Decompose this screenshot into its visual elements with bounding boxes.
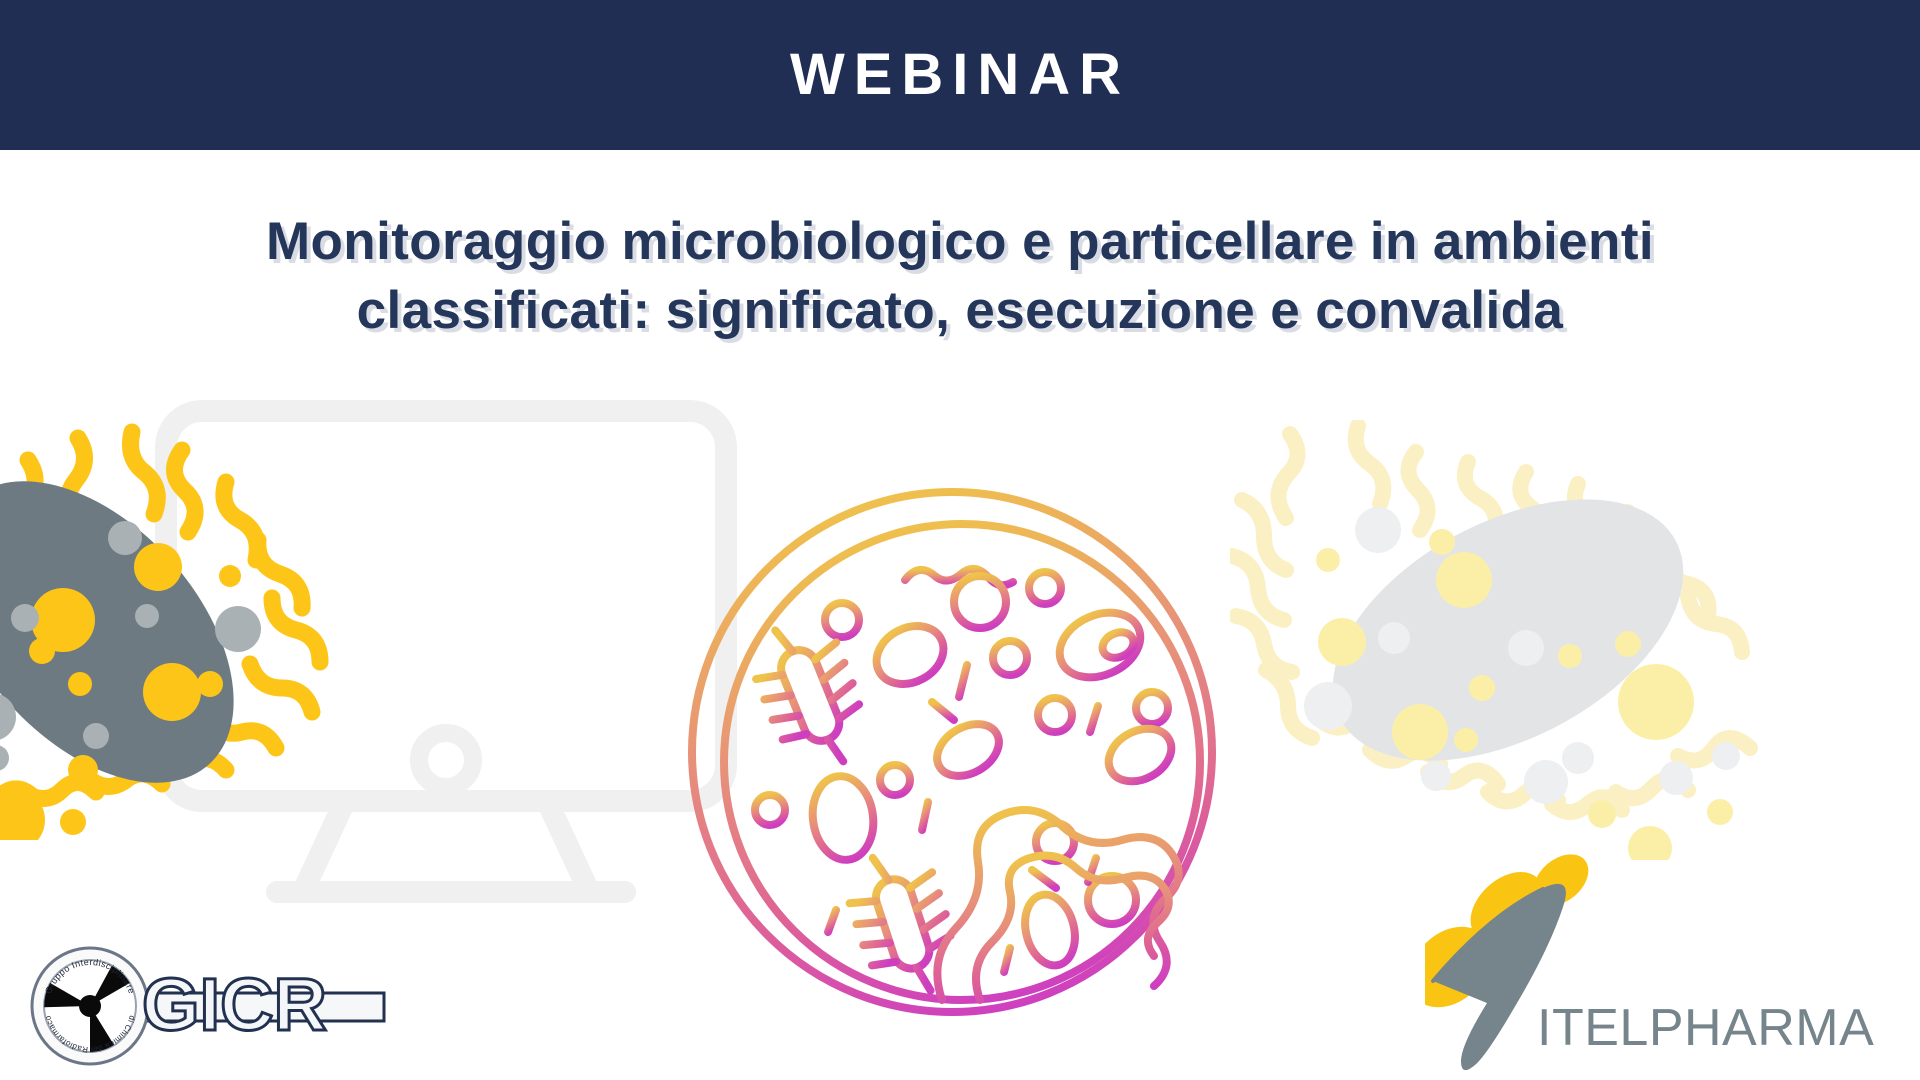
banner-label: WEBINAR xyxy=(790,46,1130,104)
itelpharma-logo[interactable]: ITELPHARMA xyxy=(1425,845,1895,1075)
gicr-logo[interactable]: Gruppo Interdisciplinare di Chimica del … xyxy=(28,935,398,1080)
illustration-stage: Gruppo Interdisciplinare di Chimica del … xyxy=(0,0,1920,1080)
webinar-banner: WEBINAR xyxy=(0,0,1920,150)
bacterium-icon-left xyxy=(0,420,380,840)
itelpharma-wordmark: ITELPHARMA xyxy=(1537,999,1874,1057)
petri-dish-icon xyxy=(680,470,1240,1030)
bacterium-icon-right xyxy=(1230,420,1870,860)
gicr-wordmark: GICR xyxy=(142,963,327,1046)
petri-inner-rim xyxy=(724,524,1200,1000)
radiation-seal: Gruppo Interdisciplinare di Chimica del … xyxy=(32,948,148,1064)
